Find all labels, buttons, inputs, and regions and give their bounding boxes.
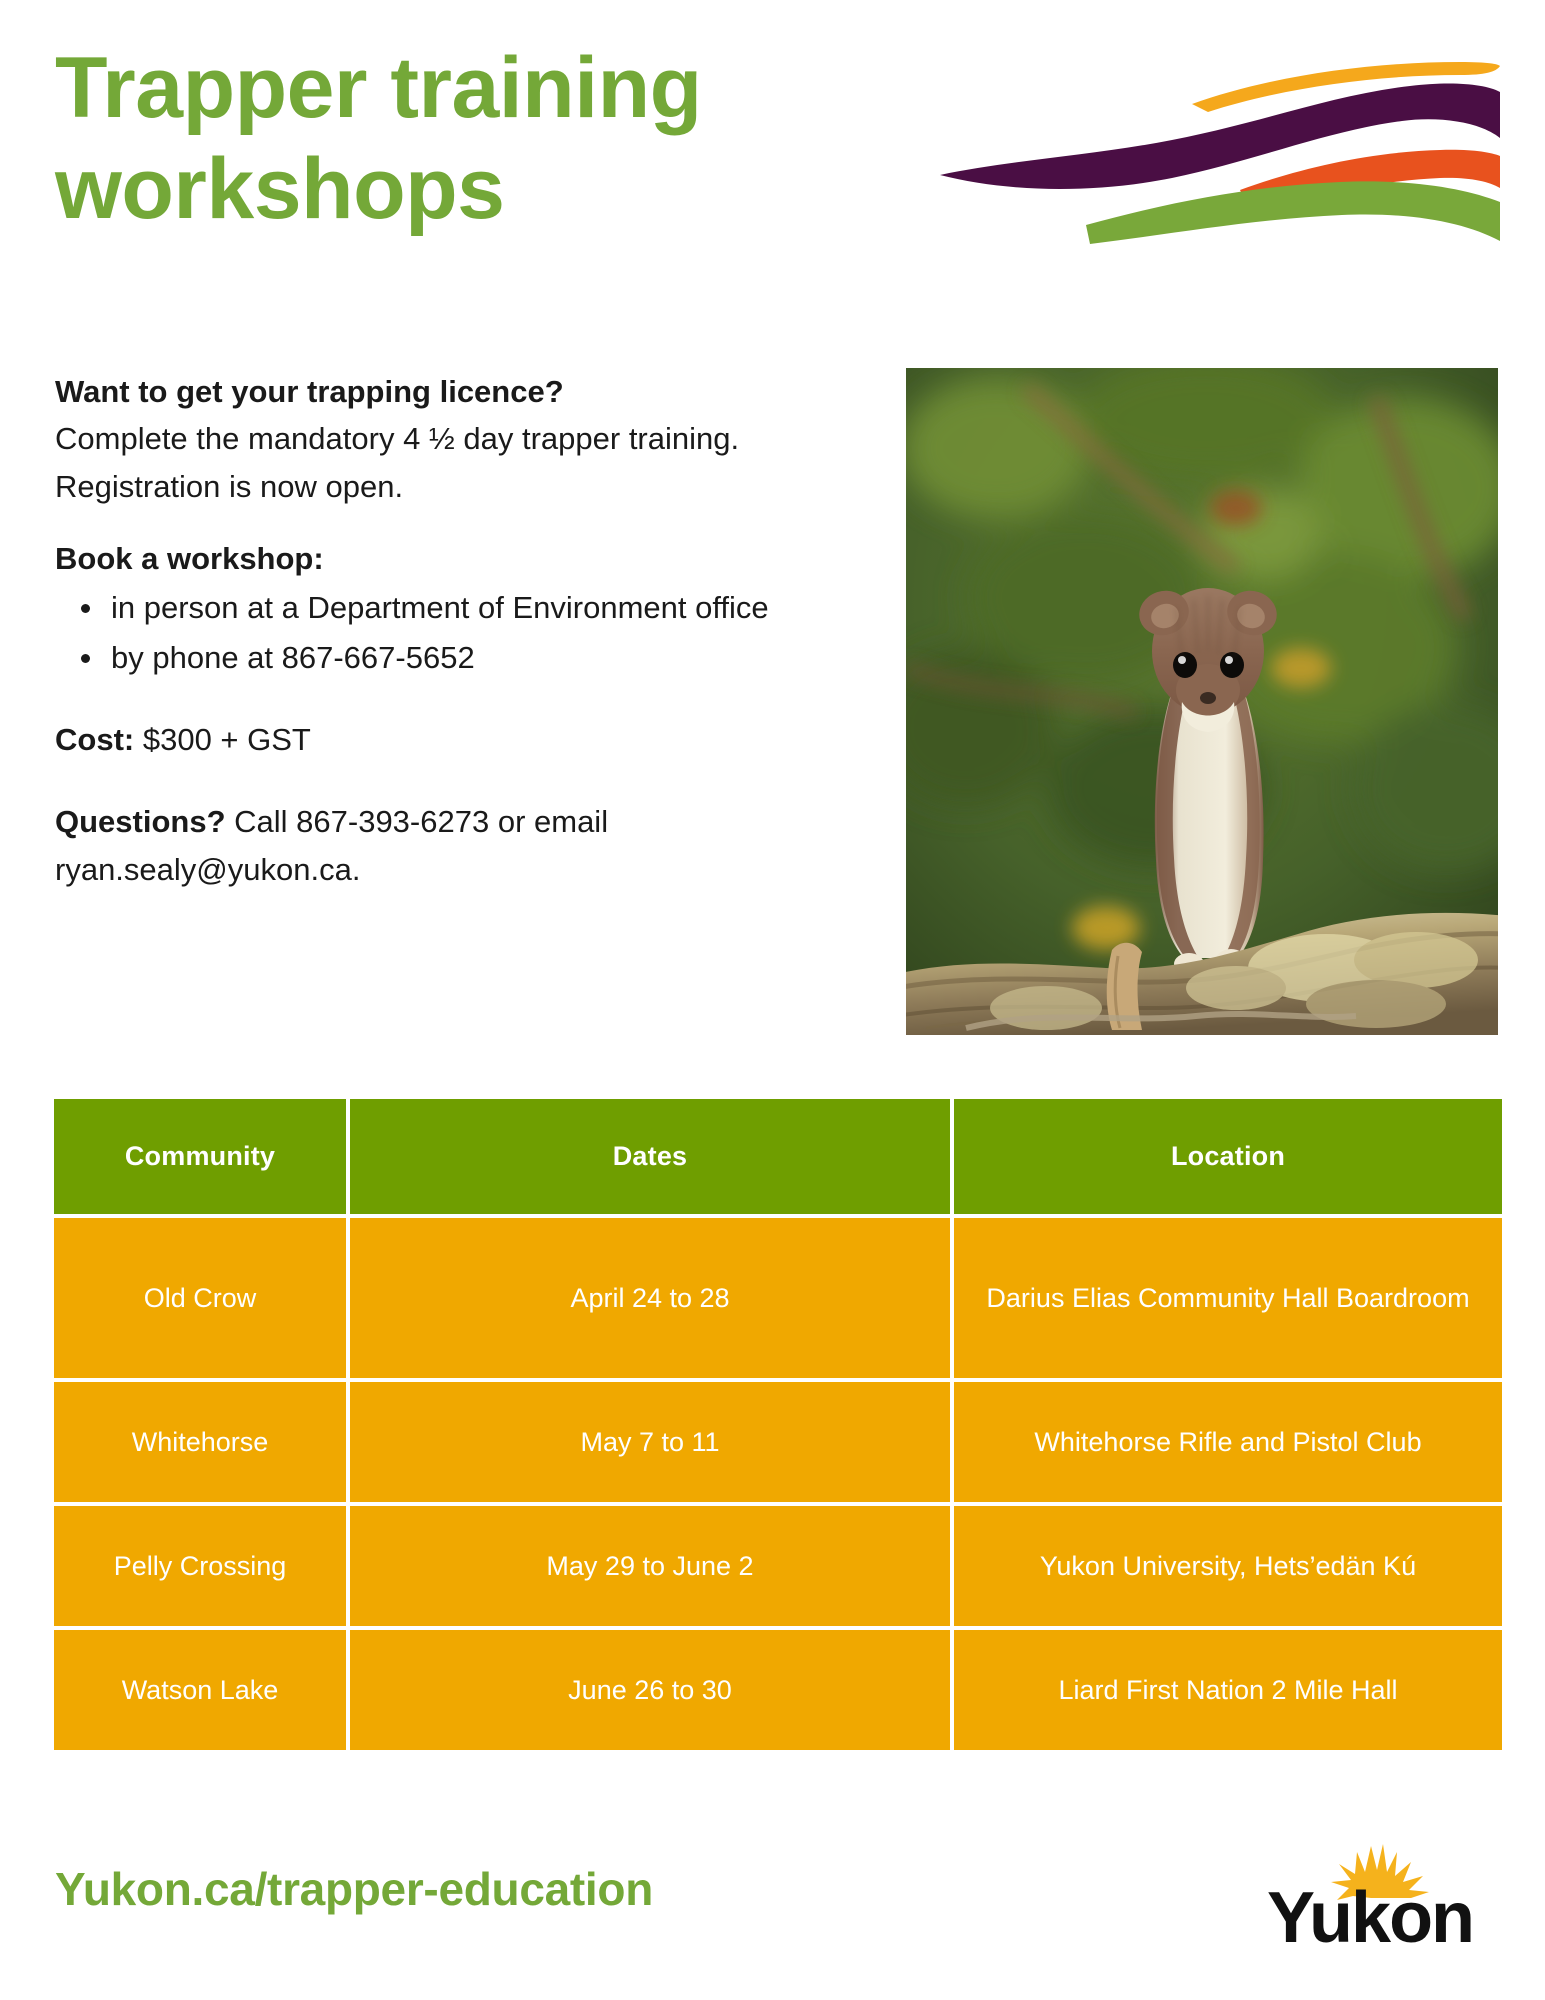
cell-community: Old Crow [54,1218,346,1378]
workshop-schedule-table: Community Dates Location Old Crow April … [50,1095,1506,1754]
lead-body: Complete the mandatory 4 ½ day trapper t… [55,415,885,511]
table-row: Pelly Crossing May 29 to June 2 Yukon Un… [54,1506,1502,1626]
book-options-list: in person at a Department of Environment… [55,584,885,682]
list-item-label: in person at a Department of Environment… [111,590,769,625]
yukon-government-logo: Yukon [1253,1838,1493,1958]
footer-url-link[interactable]: Yukon.ca/trapper-education [55,1862,653,1916]
cost-value: $300 + GST [143,722,311,757]
cell-location: Darius Elias Community Hall Boardroom [954,1218,1502,1378]
lead-block: Want to get your trapping licence? Compl… [55,370,885,511]
cost-label: Cost: [55,722,134,757]
page-title: Trapper training workshops [55,38,955,241]
weasel-on-log-photo [906,368,1498,1035]
list-item-label: by phone at 867-667-5652 [111,640,475,675]
bullet-icon [81,654,90,663]
cost-block: Cost: $300 + GST [55,716,885,764]
body-copy: Want to get your trapping licence? Compl… [55,370,885,928]
cell-community: Whitehorse [54,1382,346,1502]
bullet-icon [81,604,90,613]
table-row: Old Crow April 24 to 28 Darius Elias Com… [54,1218,1502,1378]
yukon-swoosh-icon [940,60,1500,245]
book-block: Book a workshop: in person at a Departme… [55,537,885,682]
cell-location: Yukon University, Hets’edän Kú [954,1506,1502,1626]
cell-dates: May 7 to 11 [350,1382,950,1502]
questions-line: Questions? Call 867-393-6273 or email ry… [55,798,885,894]
questions-label: Questions? [55,804,226,839]
column-header-dates: Dates [350,1099,950,1214]
table-header-row: Community Dates Location [54,1099,1502,1214]
weasel-photo-illustration [906,368,1498,1035]
yukon-wordmark-text: Yukon [1267,1878,1473,1958]
cell-community: Pelly Crossing [54,1506,346,1626]
book-heading: Book a workshop: [55,537,885,582]
questions-block: Questions? Call 867-393-6273 or email ry… [55,798,885,894]
poster-page: Trapper training workshops Want to get y… [0,0,1545,2000]
cell-community: Watson Lake [54,1630,346,1750]
cell-location: Liard First Nation 2 Mile Hall [954,1630,1502,1750]
cell-dates: May 29 to June 2 [350,1506,950,1626]
column-header-community: Community [54,1099,346,1214]
poster-header: Trapper training workshops [55,38,1500,268]
cell-dates: June 26 to 30 [350,1630,950,1750]
cell-dates: April 24 to 28 [350,1218,950,1378]
lead-heading: Want to get your trapping licence? [55,370,885,415]
table-row: Whitehorse May 7 to 11 Whitehorse Rifle … [54,1382,1502,1502]
list-item: in person at a Department of Environment… [55,584,885,632]
list-item: by phone at 867-667-5652 [55,634,885,682]
cell-location: Whitehorse Rifle and Pistol Club [954,1382,1502,1502]
column-header-location: Location [954,1099,1502,1214]
cost-line: Cost: $300 + GST [55,716,885,764]
table-row: Watson Lake June 26 to 30 Liard First Na… [54,1630,1502,1750]
